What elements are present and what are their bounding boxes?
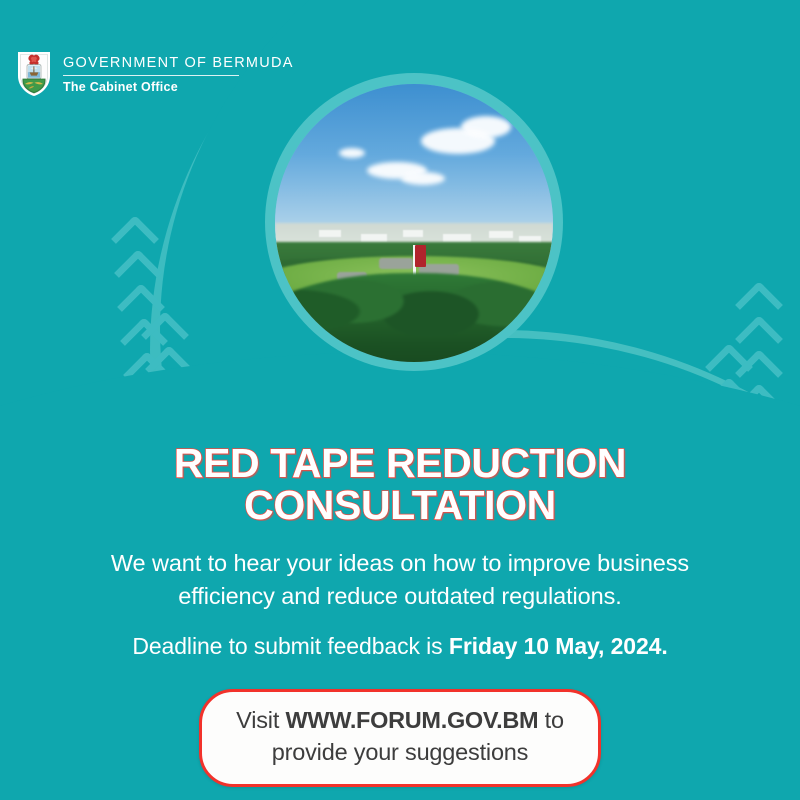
deadline-date: Friday 10 May, 2024. <box>449 633 668 659</box>
subtitle-line-1: We want to hear your ideas on how to imp… <box>111 550 689 576</box>
hero-rooftop <box>361 234 387 242</box>
cta-url[interactable]: WWW.FORUM.GOV.BM <box>285 707 538 733</box>
department-name: The Cabinet Office <box>63 80 294 94</box>
subtitle-line-2: efficiency and reduce outdated regulatio… <box>178 583 621 609</box>
headline-line-2: CONSULTATION <box>34 485 766 527</box>
government-name: GOVERNMENT OF BERMUDA <box>63 56 294 72</box>
cta-line-2: provide your suggestions <box>228 737 572 769</box>
bermuda-coat-of-arms-icon <box>16 50 52 98</box>
page-title: RED TAPE REDUCTION CONSULTATION <box>34 443 766 527</box>
hero-sky <box>275 84 553 240</box>
hero-foreground-vegetation <box>275 273 553 362</box>
hero-cloud <box>339 148 365 158</box>
hero-cloud <box>401 172 445 185</box>
hero-rooftop <box>443 234 471 242</box>
government-logo-lockup: GOVERNMENT OF BERMUDA The Cabinet Office <box>16 50 294 98</box>
logo-text-block: GOVERNMENT OF BERMUDA The Cabinet Office <box>63 54 294 95</box>
deadline-text: Deadline to submit feedback is Friday 10… <box>34 633 766 660</box>
hero-bermuda-flag <box>415 245 426 267</box>
logo-divider <box>63 75 239 76</box>
visit-website-cta[interactable]: Visit WWW.FORUM.GOV.BM to provide your s… <box>199 689 601 787</box>
cta-line-1: Visit WWW.FORUM.GOV.BM to <box>228 705 572 737</box>
hero-rooftop <box>403 230 423 237</box>
poster-canvas: GOVERNMENT OF BERMUDA The Cabinet Office… <box>0 0 800 800</box>
hero-cloud <box>461 116 511 138</box>
headline-line-1: RED TAPE REDUCTION <box>174 440 626 486</box>
cta-prefix: Visit <box>236 707 285 733</box>
deadline-prefix: Deadline to submit feedback is <box>132 633 449 659</box>
poster-subtitle: We want to hear your ideas on how to imp… <box>34 547 766 614</box>
cta-suffix: to <box>538 707 564 733</box>
hero-photo <box>275 84 553 362</box>
poster-text-block: RED TAPE REDUCTION CONSULTATION We want … <box>0 443 800 660</box>
hero-rooftop <box>319 230 341 237</box>
hero-rooftop <box>489 231 513 238</box>
hero-fort-wall <box>379 258 413 269</box>
